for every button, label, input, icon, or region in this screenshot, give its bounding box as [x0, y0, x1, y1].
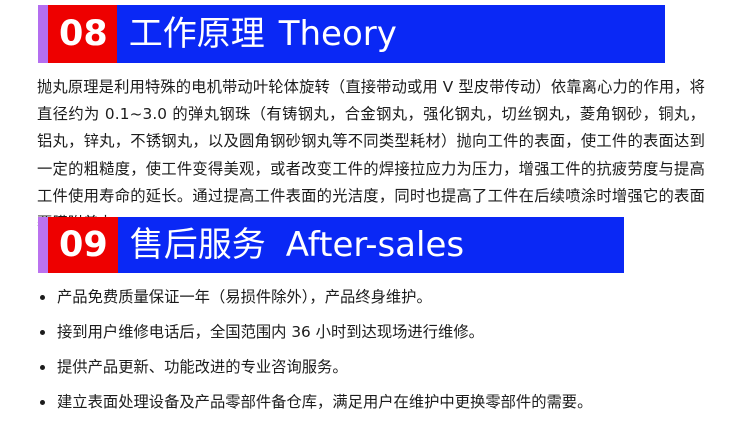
list-item-text: 接到用户维修电话后，全国范围内 36 小时到达现场进行维修。 — [57, 323, 484, 341]
list-item: 接到用户维修电话后，全国范围内 36 小时到达现场进行维修。 — [40, 322, 720, 342]
list-item: 建立表面处理设备及产品零部件备仓库，满足用户在维护中更换零部件的需要。 — [40, 392, 720, 412]
section-number-08: 08 — [48, 5, 117, 63]
section-title-en-after-sales: After-sales — [286, 228, 464, 262]
section-title-cn-theory: 工作原理 — [129, 17, 265, 51]
list-item-text: 建立表面处理设备及产品零部件备仓库，满足用户在维护中更换零部件的需要。 — [57, 393, 592, 411]
list-item-text: 提供产品更新、功能改进的专业咨询服务。 — [57, 358, 348, 376]
list-item: 提供产品更新、功能改进的专业咨询服务。 — [40, 357, 720, 377]
accent-bar-icon — [38, 5, 48, 63]
bullet-dot-icon — [40, 295, 45, 300]
bullet-dot-icon — [40, 400, 45, 405]
list-item-text: 产品免费质量保证一年（易损件除外），产品终身维护。 — [57, 288, 432, 306]
section-number-09: 09 — [48, 217, 118, 273]
accent-bar-icon — [38, 217, 48, 273]
after-sales-list: 产品免费质量保证一年（易损件除外），产品终身维护。 接到用户维修电话后，全国范围… — [40, 287, 720, 427]
product-detail-page: 08 工作原理 Theory 抛丸原理是利用特殊的电机带动叶轮体旋转（直接带动或… — [0, 0, 740, 429]
theory-paragraph: 抛丸原理是利用特殊的电机带动叶轮体旋转（直接带动或用 V 型皮带传动）依靠离心力… — [37, 74, 705, 237]
section-title-cn-after-sales: 售后服务 — [130, 228, 266, 262]
section-title-group-theory: 工作原理 Theory — [117, 5, 665, 63]
section-title-en-theory: Theory — [279, 17, 397, 51]
section-title-group-after-sales: 售后服务 After-sales — [118, 217, 624, 273]
list-item: 产品免费质量保证一年（易损件除外），产品终身维护。 — [40, 287, 720, 307]
bullet-dot-icon — [40, 330, 45, 335]
section-header-theory: 08 工作原理 Theory — [38, 5, 665, 63]
bullet-dot-icon — [40, 365, 45, 370]
section-header-after-sales: 09 售后服务 After-sales — [38, 217, 624, 273]
